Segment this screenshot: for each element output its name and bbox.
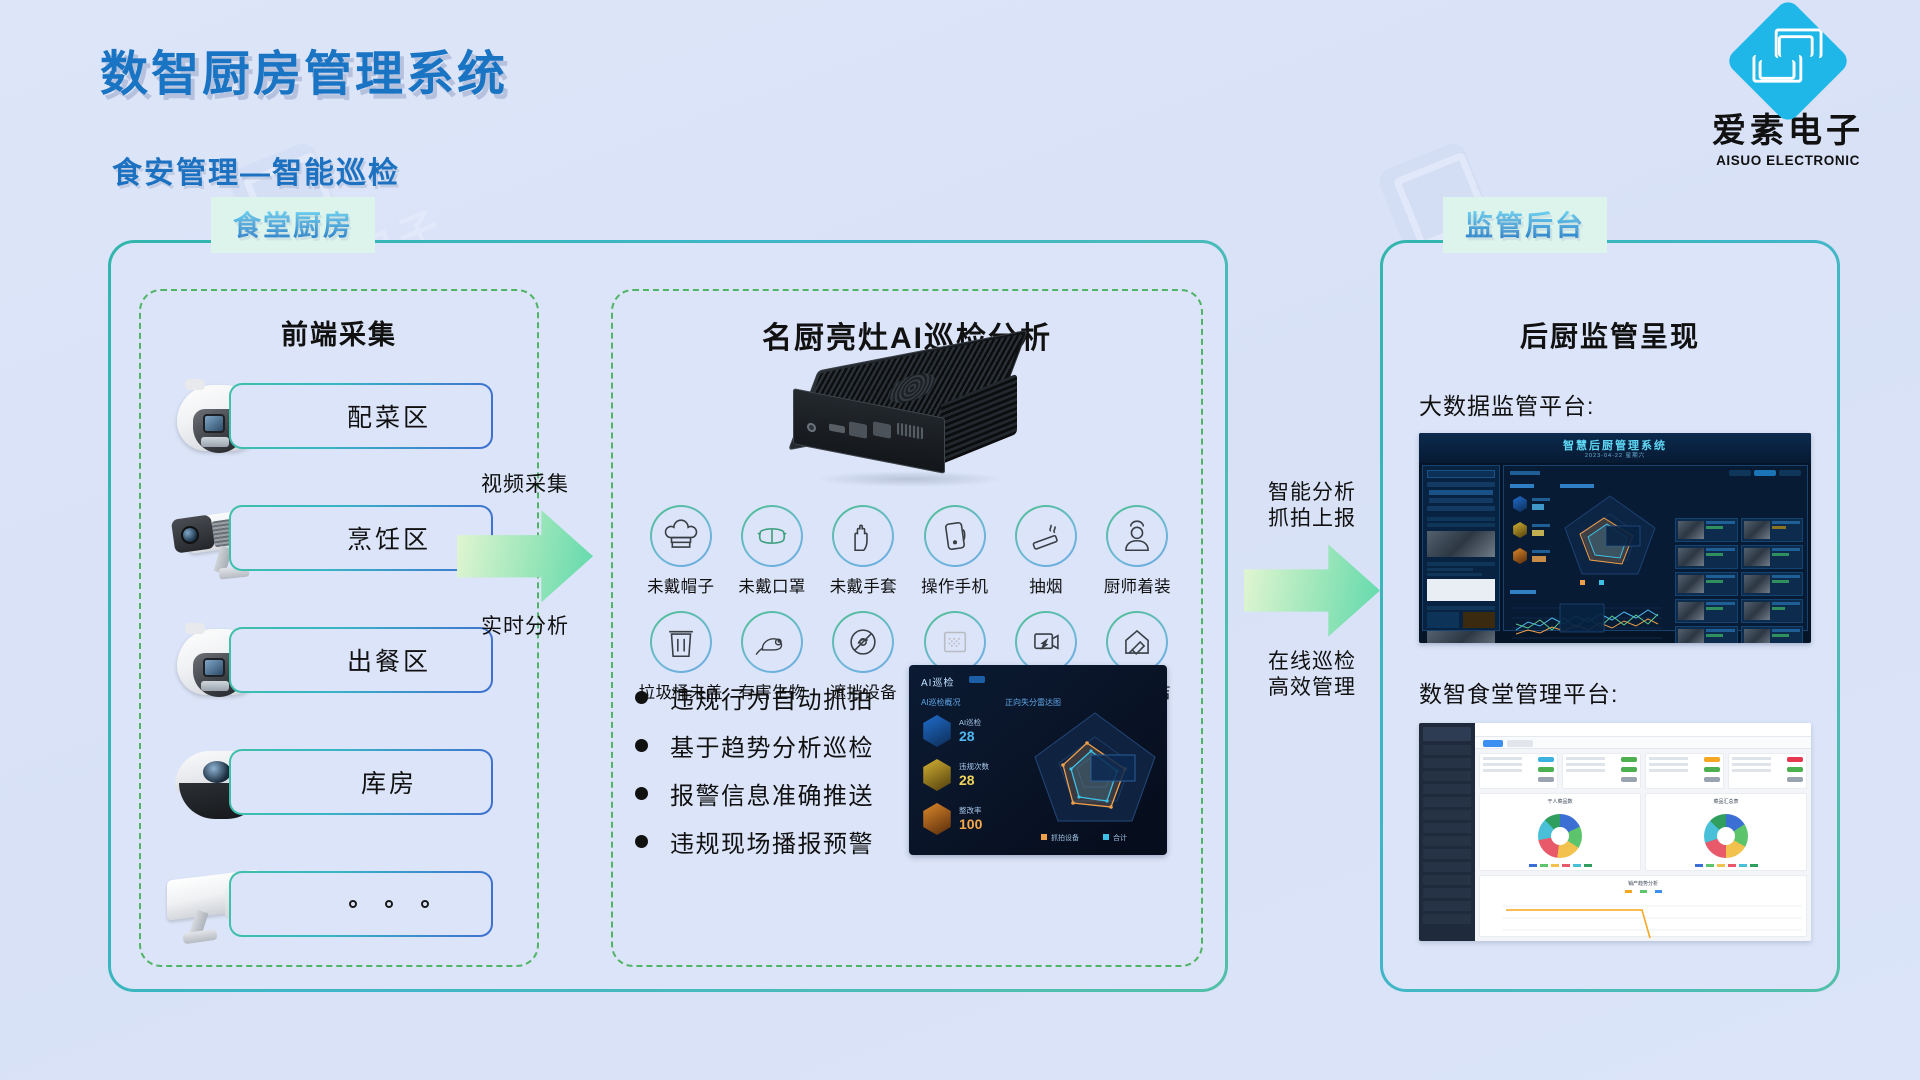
bullet-dot-icon [635,787,648,800]
admin-sidebar [1419,723,1475,941]
detection-item[interactable]: 未戴手套 [818,505,909,597]
arrow-video-capture: 视频采集 实时分析 [450,472,600,641]
face-mask-icon [741,505,803,567]
bullet-dot-icon [635,691,648,704]
mini-dash-left-section: AI巡检概况 [921,697,961,708]
detection-item[interactable]: 未戴帽子 [635,505,726,597]
cigarette-icon [1015,505,1077,567]
detection-item[interactable]: 未戴口罩 [726,505,817,597]
bigdata-dashboard-screenshot[interactable]: 智慧后厨管理系统 2023-04-22 星期六 [1419,433,1811,643]
dashboard-sidebar [1422,465,1500,631]
detection-label: 未戴口罩 [726,573,817,597]
logo-name-en: AISUO ELECTRONIC [1704,153,1872,168]
detection-label: 抽烟 [1000,573,1091,597]
canteen-dashboard-screenshot[interactable]: 干人菜品数 菜品汇总表 [1419,723,1811,941]
aisuo-diamond-logo-icon [1724,0,1851,125]
phone-in-hand-icon [924,505,986,567]
chart-title: 菜品汇总表 [1646,798,1806,805]
camera-blocked-icon [832,611,894,673]
blurred-video-icon [924,611,986,673]
front-capture-title: 前端采集 [141,313,537,352]
video-patrol-icon [1015,611,1077,673]
slide-canvas: 爱素电子 AISUO ELECTRONIC 爱素电子 AISUO ELECTRO… [0,0,1920,1080]
list-item: 报警信息准确推送 [635,769,900,817]
kpi-hex-icon [921,759,953,791]
chef-hat-icon [650,505,712,567]
kpi-name: 整改率 [959,805,982,816]
arrow-bottom-label: 实时分析 [450,614,600,640]
page-title: 数智厨房管理系统 [100,34,508,104]
chart-legend [1646,864,1806,867]
detection-label: 未戴帽子 [635,573,726,597]
camera-thumb-card [1741,545,1804,569]
feature-label: 报警信息准确推送 [670,776,874,811]
camera-thumb-card [1675,518,1738,542]
camera-thumb-card [1741,626,1804,643]
rodent-icon [741,611,803,673]
camera-thumbnail-grid [1675,518,1803,612]
feature-list: 违规行为自动抓拍 基于趋势分析巡检 报警信息准确推送 违规现场播报预警 [635,673,900,865]
camera-thumb-card [1741,518,1804,542]
camera-label: 出餐区 [291,642,431,678]
camera-thumb-card [1675,626,1738,643]
camera-thumb-card [1741,599,1804,623]
page-subtitle: 食安管理—智能巡检 [112,148,400,192]
arrow-right-icon [457,508,593,604]
list-item: 违规现场播报预警 [635,817,900,865]
camera-thumb-card [1675,572,1738,596]
feature-label: 违规行为自动抓拍 [670,680,874,715]
detection-item[interactable]: 抽烟 [1000,505,1091,597]
arrow-bottom-label-line1: 在线巡检 [1232,649,1392,675]
camera-thumb-card [1675,599,1738,623]
stat-card [1645,753,1724,789]
camera-more-ellipsis [293,900,429,908]
kpi-hex-icon [921,803,953,835]
chart-title: 干人菜品数 [1480,798,1640,805]
backend-title: 后厨监管呈现 [1383,315,1837,355]
stat-card-row [1479,753,1807,789]
camera-label: 配菜区 [291,398,431,434]
legend-label: 合计 [1113,835,1127,842]
kpi-value: 28 [959,772,975,788]
admin-tabbar [1475,737,1811,749]
arrow-right-icon [1244,543,1380,639]
kitchen-panel: 食堂厨房 前端采集 配菜区 [108,240,1228,992]
detection-label: 操作手机 [909,573,1000,597]
camera-thumb-card [1741,572,1804,596]
line-chart-panel: 销产趋势分析 [1479,875,1807,937]
detection-item[interactable]: 厨师着装 [1092,505,1183,597]
backend-panel: 监管后台 后厨监管呈现 大数据监管平台: 智慧后厨管理系统 2023-04-22… [1380,240,1840,992]
dashboard-date: 2023-04-22 星期六 [1419,451,1811,459]
camera-label: 库房 [305,764,417,800]
dashboard-main [1503,465,1808,631]
admin-topbar [1475,723,1811,737]
camera-item[interactable] [159,857,523,979]
platform-label-bigdata: 大数据监管平台: [1419,387,1594,421]
stat-card [1728,753,1807,789]
feature-label: 违规现场播报预警 [670,824,874,859]
bullet-dot-icon [635,739,648,752]
kpi-card: 整改率 100 [919,801,1031,837]
detection-label: 未戴手套 [818,573,909,597]
ai-inspection-dashboard-preview[interactable]: AI巡检 AI巡检概况 正向失分雷达图 AI巡检 28 违规次数 28 [909,665,1167,855]
legend-label: 抓拍设备 [1051,835,1079,842]
stat-card [1479,753,1558,789]
kpi-name: 违规次数 [959,761,989,772]
kpi-card: AI巡检 28 [919,713,1031,749]
camera-list: 配菜区 烹饪区 [159,369,523,979]
detection-label: 厨师着装 [1092,573,1183,597]
company-logo: 爱素电子 AISUO ELECTRONIC [1704,16,1872,168]
platform-label-canteen: 数智食堂管理平台: [1419,675,1618,709]
stat-card [1562,753,1641,789]
arrow-top-label-line1: 智能分析 [1232,480,1392,506]
camera-label: 烹饪区 [291,520,431,556]
ai-analysis-box: 名厨亮灶AI巡检分析 [611,289,1203,967]
bullet-dot-icon [635,835,648,848]
ai-analysis-title: 名厨亮灶AI巡检分析 [613,313,1201,357]
donut-chart-panel: 菜品汇总表 [1645,793,1807,871]
arrow-top-label: 视频采集 [450,472,600,498]
detection-item[interactable]: 操作手机 [909,505,1000,597]
backend-panel-badge: 监管后台 [1443,197,1607,253]
camera-item[interactable]: 库房 [159,735,523,857]
donut-chart-row: 干人菜品数 菜品汇总表 [1479,793,1807,871]
camera-thumb-card [1675,545,1738,569]
radar-chart [1029,707,1161,827]
radar-legend: 抓拍设备 合计 [1041,833,1127,843]
chart-legend [1480,864,1640,867]
arrow-top-label-line2: 抓拍上报 [1232,506,1392,532]
donut-chart [1538,814,1582,858]
kpi-card: 违规次数 28 [919,757,1031,793]
donut-chart [1704,814,1748,858]
glove-icon [832,505,894,567]
arrow-smart-analysis: 智能分析 抓拍上报 在线巡检 高效管理 [1232,480,1392,701]
list-item: 基于趋势分析巡检 [635,721,900,769]
mini-dash-title: AI巡检 [921,674,954,689]
list-item: 违规行为自动抓拍 [635,673,900,721]
kitchen-panel-badge: 食堂厨房 [211,197,375,253]
arrow-bottom-label-line2: 高效管理 [1232,675,1392,701]
chef-uniform-icon [1106,505,1168,567]
chart-title: 销产趋势分析 [1480,880,1806,887]
donut-chart-panel: 干人菜品数 [1479,793,1641,871]
ai-edge-box-icon [785,353,1035,493]
kpi-value: 100 [959,816,982,832]
kpi-name: AI巡检 [959,717,981,728]
kpi-hex-icon [921,715,953,747]
cleaning-icon [1106,611,1168,673]
kpi-value: 28 [959,728,975,744]
feature-label: 基于趋势分析巡检 [670,728,874,763]
trash-bin-icon [650,611,712,673]
mini-dash-chip [969,676,985,683]
